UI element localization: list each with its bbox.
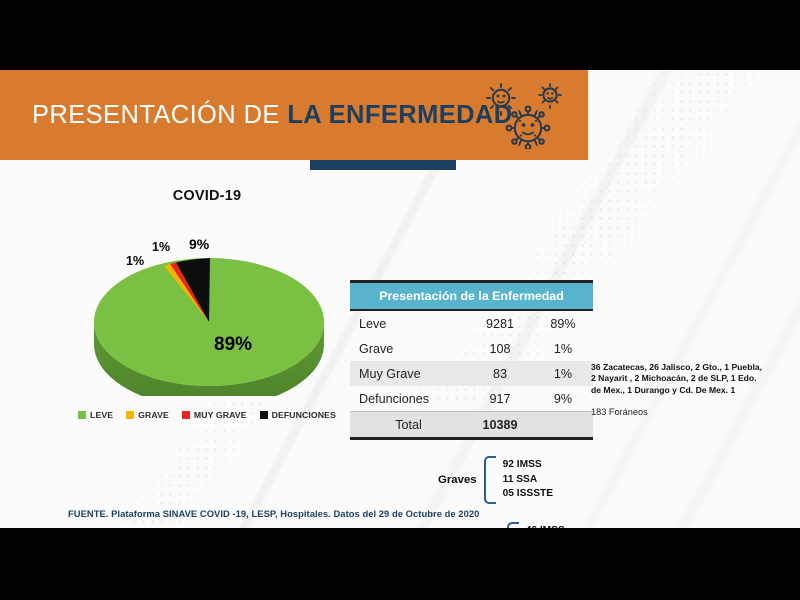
source-footer: FUENTE. Plataforma SINAVE COVID -19, LES… [68, 508, 479, 519]
row-label-grave: Grave [350, 336, 467, 361]
table-row: Leve 9281 89% [350, 310, 593, 336]
legend-label-leve: LEVE [90, 410, 113, 420]
group-muy-graves-item: 46 IMSS [526, 524, 576, 528]
chart-legend: LEVE GRAVE MUY GRAVE DEFUNCIONES [62, 410, 352, 420]
group-graves-item: 11 SSA [503, 473, 553, 487]
row-count-muy-grave: 83 [467, 361, 533, 386]
group-graves-item: 92 IMSS [503, 458, 553, 472]
group-graves-items: 92 IMSS 11 SSA 05 ISSSTE [503, 458, 553, 501]
foraneos-count: 183 Foráneos [591, 407, 791, 417]
row-percent-muy-grave: 1% [533, 361, 593, 386]
pie-label-leve: 89% [214, 334, 252, 356]
slide-canvas: PRESENTACIÓN DE LA ENFERMEDAD [0, 70, 800, 528]
virus-icons-group [484, 83, 574, 149]
legend-label-grave: GRAVE [138, 410, 169, 420]
total-label: Total [350, 412, 467, 438]
table-row: Muy Grave 83 1% [350, 361, 593, 386]
title-band: PRESENTACIÓN DE LA ENFERMEDAD [0, 70, 588, 160]
legend-swatch-grave [126, 411, 134, 419]
table-row: Grave 108 1% [350, 336, 593, 361]
row-percent-defunciones: 9% [533, 386, 593, 412]
group-graves: Graves 92 IMSS 11 SSA 05 ISSSTE [438, 456, 553, 504]
legend-label-muy-grave: MUY GRAVE [194, 410, 247, 420]
row-label-muy-grave: Muy Grave [350, 361, 467, 386]
chart-title: COVID-19 [62, 188, 352, 204]
legend-label-defunciones: DEFUNCIONES [272, 410, 336, 420]
virus-icon-large [507, 107, 550, 149]
legend-item-grave: GRAVE [126, 410, 169, 420]
total-count: 10389 [467, 412, 533, 438]
group-graves-item: 05 ISSSTE [503, 487, 553, 501]
group-graves-label: Graves [438, 474, 477, 486]
pie-label-defunciones: 9% [189, 236, 209, 252]
states-note-line-3: de Mex., 1 Durango y Cd. De Mex. 1 [591, 385, 791, 396]
virus-icon-small-left [487, 84, 515, 115]
pie-label-grave: 1% [126, 254, 144, 268]
pie-label-muy-grave: 1% [152, 240, 170, 254]
row-percent-grave: 1% [533, 336, 593, 361]
row-label-defunciones: Defunciones [350, 386, 467, 412]
bracket-icon-graves [484, 456, 496, 504]
legend-swatch-muy-grave [182, 411, 190, 419]
total-percent [533, 412, 593, 438]
row-count-defunciones: 917 [467, 386, 533, 412]
page-title-light: PRESENTACIÓN DE [32, 101, 287, 129]
table-header-row: Presentación de la Enfermedad [350, 283, 593, 310]
title-accent-bar [310, 160, 456, 170]
states-note: 36 Zacatecas, 26 Jalisco, 2 Gto., 1 Pueb… [591, 362, 791, 417]
virus-icon-small-right [539, 84, 561, 108]
group-muy-graves: Muy graves 46 IMSS 32 SSA 05 ISSSTE [437, 522, 576, 528]
legend-swatch-leve [78, 411, 86, 419]
group-muy-graves-items: 46 IMSS 32 SSA 05 ISSSTE [526, 524, 576, 528]
row-count-grave: 108 [467, 336, 533, 361]
pie-graphic: 89% 9% 1% 1% [84, 226, 334, 396]
states-note-line-1: 36 Zacatecas, 26 Jalisco, 2 Gto., 1 Pueb… [591, 362, 791, 373]
legend-item-leve: LEVE [78, 410, 113, 420]
states-note-line-2: 2 Nayarit , 2 Michoacán, 2 de SLP, 1 Edo… [591, 373, 791, 384]
pie-chart: COVID-19 [62, 188, 352, 438]
table-total-row: Total 10389 [350, 412, 593, 438]
legend-item-muy-grave: MUY GRAVE [182, 410, 247, 420]
row-count-leve: 9281 [467, 310, 533, 336]
page-title: PRESENTACIÓN DE LA ENFERMEDAD [32, 101, 513, 130]
table-header-title: Presentación de la Enfermedad [350, 283, 593, 310]
legend-item-defunciones: DEFUNCIONES [260, 410, 336, 420]
row-label-leve: Leve [350, 310, 467, 336]
presentation-table: Presentación de la Enfermedad Leve 9281 … [350, 280, 593, 440]
bracket-icon-muy-graves [507, 522, 519, 528]
row-percent-leve: 89% [533, 310, 593, 336]
legend-swatch-defunciones [260, 411, 268, 419]
table-row: Defunciones 917 9% [350, 386, 593, 412]
slide-viewport: PRESENTACIÓN DE LA ENFERMEDAD [0, 0, 800, 600]
page-title-bold: LA ENFERMEDAD [287, 101, 512, 129]
